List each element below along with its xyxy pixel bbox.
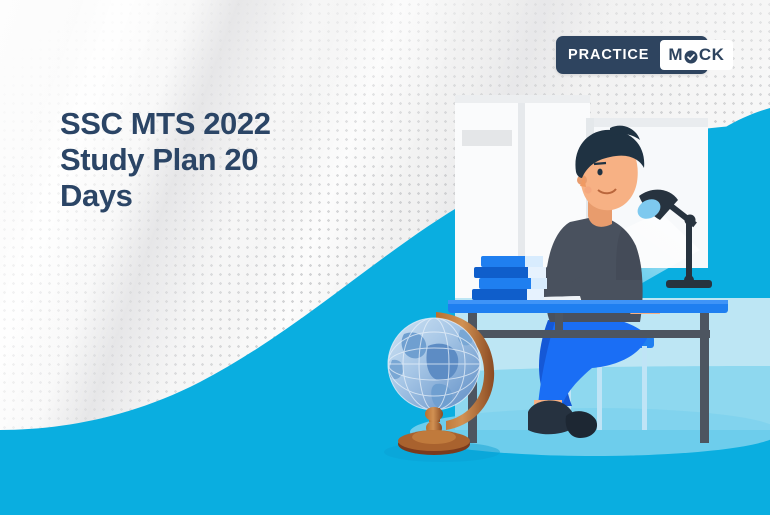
book-stack [472, 256, 547, 300]
student-study-illustration [0, 0, 770, 515]
logo-mock-text: M CK [668, 45, 724, 65]
logo-mock-m: M [668, 45, 683, 65]
eye [597, 169, 602, 176]
check-circle-icon [684, 49, 698, 63]
page-title: SSC MTS 2022 Study Plan 20 Days [60, 106, 360, 214]
globe-grid [388, 318, 480, 410]
eyebrow [594, 163, 606, 164]
practice-mock-logo[interactable]: PRACTICE M CK [556, 36, 708, 74]
desk-crossbar [468, 330, 710, 338]
cheek [584, 186, 591, 193]
banner-image: SSC MTS 2022 Study Plan 20 Days PRACTICE… [0, 0, 770, 515]
logo-practice-text: PRACTICE [568, 47, 660, 63]
logo-mock-plate: M CK [660, 40, 733, 70]
logo-mock-ck: CK [699, 45, 724, 65]
